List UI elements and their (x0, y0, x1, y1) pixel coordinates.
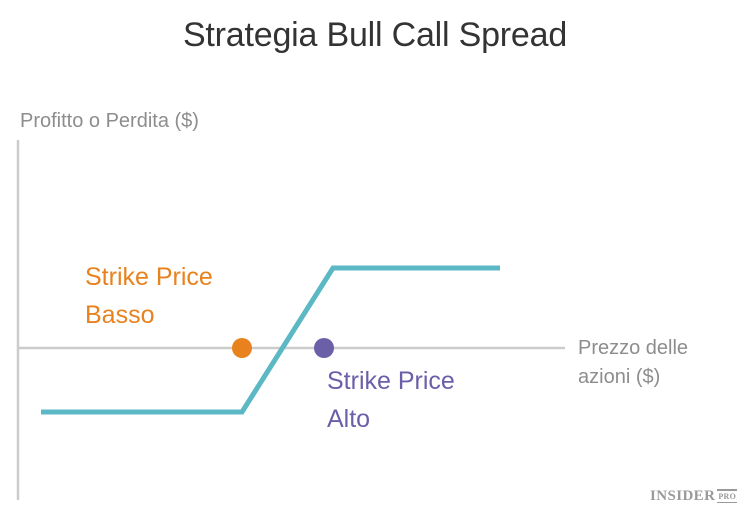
chart-container: Strategia Bull Call Spread Profitto o Pe… (0, 0, 750, 532)
insider-pro-watermark: INSIDER PRO (650, 489, 737, 504)
low-strike-marker (232, 338, 252, 358)
high-strike-annotation-line1: Strike Price (327, 362, 455, 400)
high-strike-annotation-line2: Alto (327, 400, 455, 438)
high-strike-annotation: Strike Price Alto (327, 362, 455, 438)
high-strike-marker (314, 338, 334, 358)
low-strike-annotation-line1: Strike Price (85, 258, 213, 296)
low-strike-annotation-line2: Basso (85, 296, 213, 334)
watermark-wordmark: INSIDER (650, 489, 715, 504)
x-axis-label-line2: azioni ($) (578, 363, 743, 392)
watermark-pro-badge: PRO (717, 489, 737, 503)
low-strike-annotation: Strike Price Basso (85, 258, 213, 334)
x-axis-label-line1: Prezzo delle (578, 334, 743, 363)
x-axis-label: Prezzo delle azioni ($) (578, 334, 743, 392)
